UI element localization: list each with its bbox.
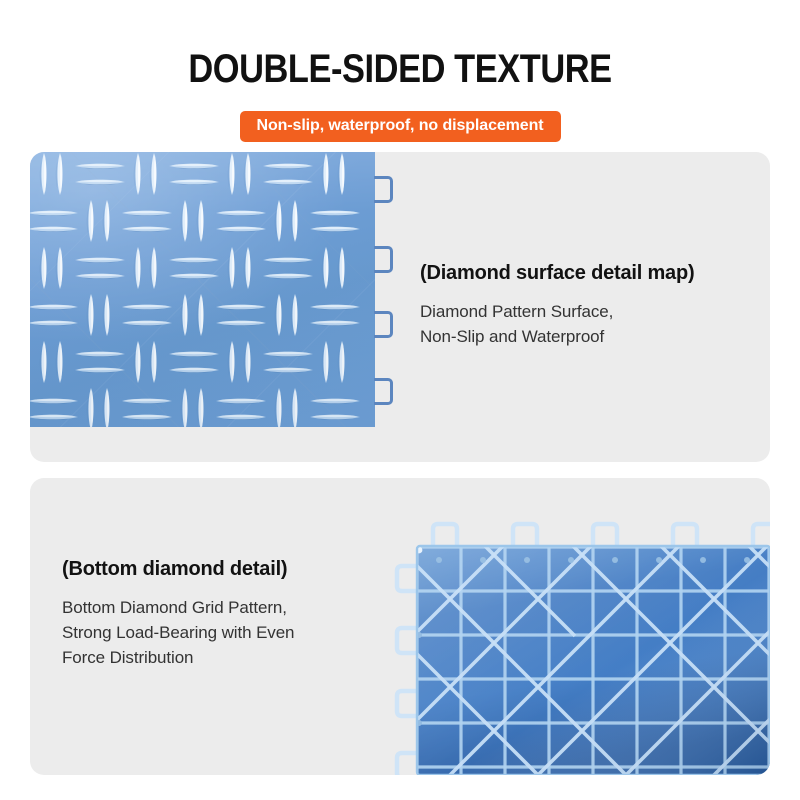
description-line: Bottom Diamond Grid Pattern, [62, 595, 392, 620]
bottom-diamond-caption: (Bottom diamond detail) [62, 556, 392, 582]
tile-underside-grid-svg [395, 516, 770, 775]
tile-connector-tab [374, 246, 393, 273]
description-line: Force Distribution [62, 645, 392, 670]
feature-badge: Non-slip, waterproof, no displacement [240, 111, 561, 142]
diamond-surface-caption: (Diamond surface detail map) [420, 260, 750, 286]
diamond-surface-image [30, 152, 375, 427]
badge-container: Non-slip, waterproof, no displacement [0, 111, 800, 142]
bottom-diamond-description: Bottom Diamond Grid Pattern, Strong Load… [62, 595, 392, 670]
diamond-surface-text: (Diamond surface detail map) Diamond Pat… [420, 260, 750, 349]
page-title: DOUBLE-SIDED TEXTURE [56, 46, 744, 92]
header: DOUBLE-SIDED TEXTURE Non-slip, waterproo… [0, 0, 800, 150]
diamond-surface-description: Diamond Pattern Surface, Non-Slip and Wa… [420, 299, 750, 349]
panel-bottom-diamond: (Bottom diamond detail) Bottom Diamond G… [30, 478, 770, 775]
tile-left-tabs [397, 566, 419, 775]
description-line: Non-Slip and Waterproof [420, 324, 750, 349]
diamond-plate-texture [30, 152, 375, 427]
tile-connector-tab [374, 311, 393, 338]
tile-connector-tab [374, 378, 393, 405]
product-feature-page: DOUBLE-SIDED TEXTURE Non-slip, waterproo… [0, 0, 800, 800]
diamond-plate-pattern-svg [30, 152, 375, 427]
bottom-diamond-image [395, 516, 770, 775]
description-line: Diamond Pattern Surface, [420, 299, 750, 324]
panel-diamond-surface: (Diamond surface detail map) Diamond Pat… [30, 152, 770, 462]
tile-top-tabs [433, 524, 770, 548]
tile-connector-tab [374, 176, 393, 203]
bottom-diamond-text: (Bottom diamond detail) Bottom Diamond G… [62, 556, 392, 670]
description-line: Strong Load-Bearing with Even [62, 620, 392, 645]
